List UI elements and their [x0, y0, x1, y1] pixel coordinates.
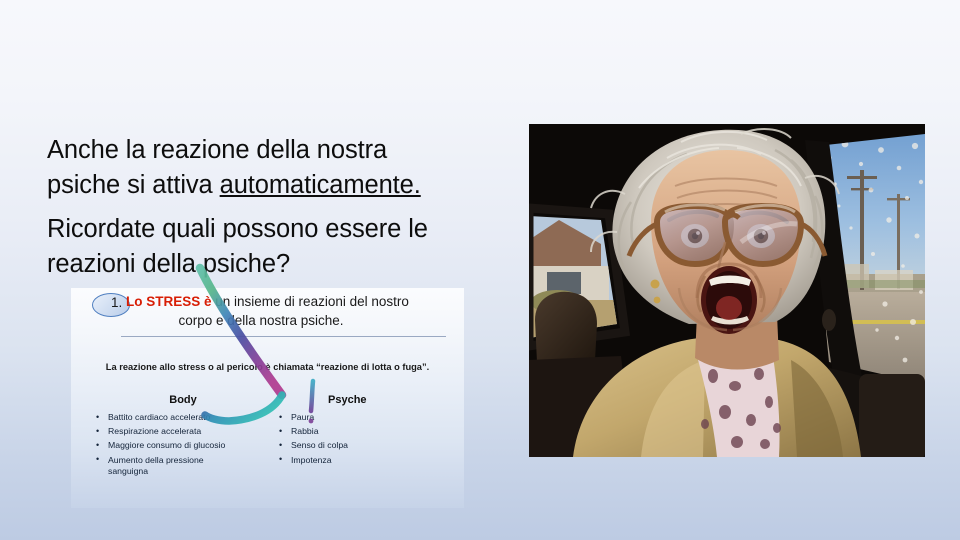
subslide-column-body: Body Battito cardiaco accelerato Respira…	[93, 394, 273, 480]
paragraph-one: Anche la reazione della nostra psiche si…	[47, 133, 467, 203]
slide-canvas: Anche la reazione della nostra psiche si…	[0, 0, 960, 540]
subslide-number-label: 1.	[111, 295, 122, 310]
list-item-text: Battito cardiaco accelerato	[108, 412, 210, 422]
subslide-heading-highlight: Lo STRESS è	[126, 294, 212, 309]
column-title-body: Body	[93, 394, 273, 406]
list-item: Rabbia	[276, 426, 436, 438]
subslide-heading-line-1: Lo STRESS è un insieme di reazioni del n…	[126, 294, 456, 309]
list-item: Senso di colpa	[276, 440, 436, 452]
list-item-text: Respirazione accelerata	[108, 426, 201, 436]
list-item-text: Rabbia	[291, 426, 319, 436]
list-item: Impotenza	[276, 455, 436, 467]
list-item-text: Impotenza	[291, 455, 332, 465]
subslide-column-psyche: Psyche Paura Rabbia Senso di colpa Impot…	[276, 394, 436, 469]
bullet-list-psyche: Paura Rabbia Senso di colpa Impotenza	[276, 412, 436, 466]
photo-elderly-woman-screaming-in-car	[529, 124, 925, 457]
paragraph-one-underlined-word: automaticamente.	[220, 171, 421, 199]
subslide-header: 1. Lo STRESS è un insieme di reazioni de…	[71, 288, 464, 340]
slide-body-text: Anche la reazione della nostra psiche si…	[47, 133, 467, 282]
list-item-text: Aumento della pressione	[108, 455, 204, 465]
bullet-list-body: Battito cardiaco accelerato Respirazione…	[93, 412, 273, 478]
list-item: Maggiore consumo di glucosio	[93, 440, 273, 452]
list-item-text-continuation: sanguigna	[108, 466, 273, 478]
list-item: Respirazione accelerata	[93, 426, 273, 438]
list-item: Paura	[276, 412, 436, 424]
subslide-heading-rest: un insieme di reazioni del nostro	[212, 294, 409, 309]
subslide-heading-line-2: corpo e della nostra psiche.	[71, 313, 451, 328]
list-item-text: Maggiore consumo di glucosio	[108, 440, 225, 450]
list-item: Aumento della pressionesanguigna	[93, 455, 273, 478]
column-title-psyche: Psyche	[276, 394, 436, 406]
list-item: Battito cardiaco accelerato	[93, 412, 273, 424]
subslide-caption: La reazione allo stress o al pericolo è …	[71, 362, 464, 372]
embedded-subslide-image: 1. Lo STRESS è un insieme di reazioni de…	[71, 288, 464, 508]
list-item-text: Paura	[291, 412, 314, 422]
subslide-divider	[121, 336, 446, 337]
paragraph-two: Ricordate quali possono essere le reazio…	[47, 212, 467, 282]
list-item-text: Senso di colpa	[291, 440, 348, 450]
